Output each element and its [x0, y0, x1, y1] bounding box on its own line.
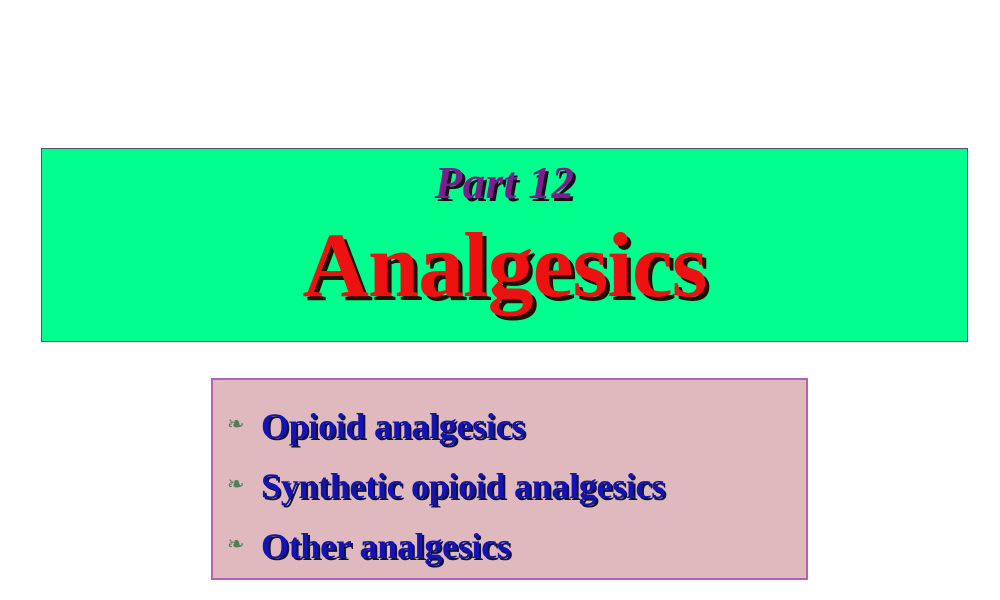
list-item-label: Synthetic opioid analgesics	[261, 466, 665, 506]
title-banner: Part 12 Analgesics	[41, 148, 968, 342]
list-item: ❧ Other analgesics	[227, 516, 806, 576]
rotated-floral-heart-bullet-icon: ❧	[227, 414, 261, 435]
list-item-label: Other analgesics	[261, 526, 511, 566]
part-number-label: Part 12	[42, 157, 967, 209]
rotated-floral-heart-bullet-icon: ❧	[227, 474, 261, 495]
presentation-slide: Part 12 Analgesics ❧ Opioid analgesics ❧…	[0, 0, 1000, 600]
list-item: ❧ Opioid analgesics	[227, 396, 806, 456]
slide-main-title: Analgesics	[42, 211, 967, 319]
list-item-label: Opioid analgesics	[261, 406, 525, 446]
topics-list: ❧ Opioid analgesics ❧ Synthetic opioid a…	[227, 396, 806, 576]
topics-content-box: ❧ Opioid analgesics ❧ Synthetic opioid a…	[211, 378, 808, 580]
rotated-floral-heart-bullet-icon: ❧	[227, 534, 261, 555]
list-item: ❧ Synthetic opioid analgesics	[227, 456, 806, 516]
